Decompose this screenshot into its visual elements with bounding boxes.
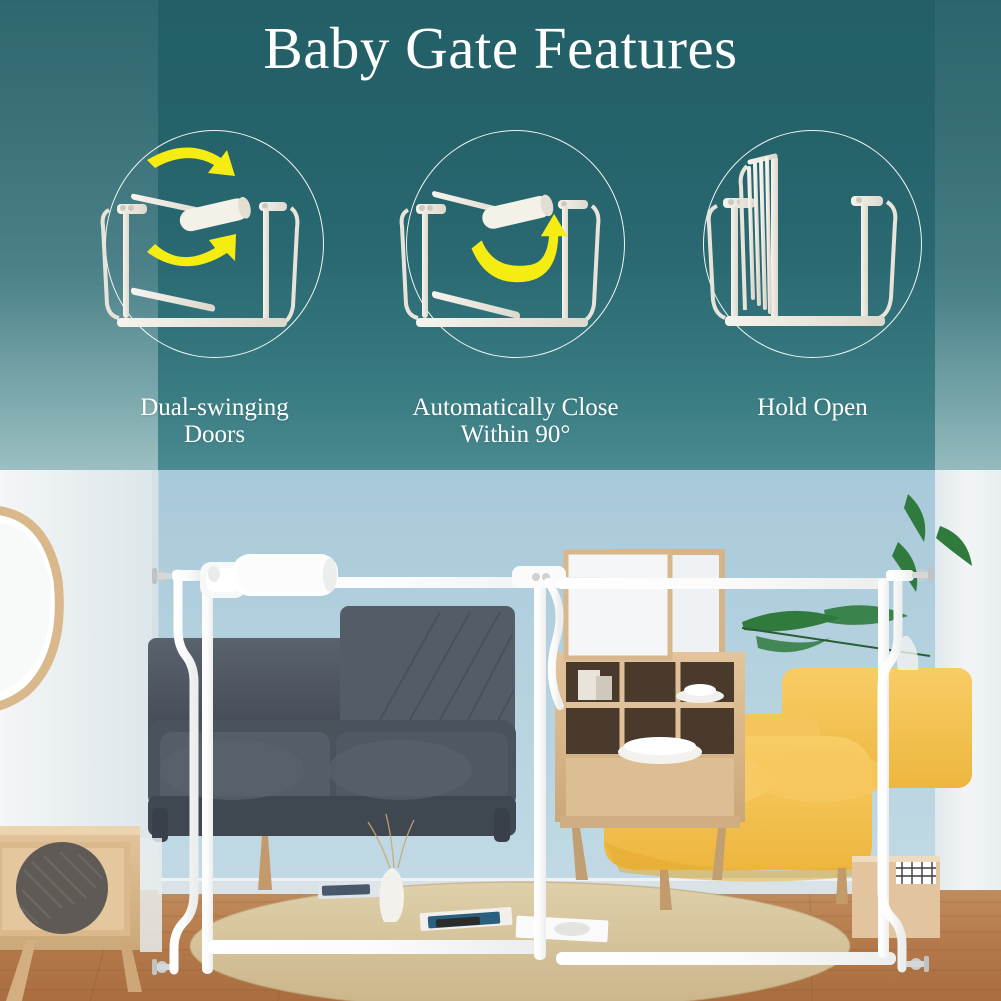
feature-caption: Automatically Close Within 90°	[384, 394, 647, 448]
framed-art	[566, 552, 670, 658]
gate-auto-close-icon	[398, 128, 633, 363]
feature-caption-line1: Automatically Close	[412, 394, 618, 421]
feature-caption-line1: Dual-swinging	[140, 394, 289, 421]
feature-caption-line2: Doors	[184, 421, 245, 448]
infographic-canvas: Baby Gate Features	[0, 0, 1001, 1001]
feature-caption-line2: Within 90°	[461, 421, 571, 448]
feature-caption: Hold Open	[681, 394, 944, 421]
gate-hold-open-icon	[695, 128, 930, 363]
feature-item-hold-open: Hold Open	[695, 128, 930, 458]
feature-row: Dual-swinging Doors	[0, 128, 1001, 458]
feature-item-automatically-close: Automatically Close Within 90°	[398, 128, 633, 458]
swing-arrow-top	[147, 147, 235, 176]
lifestyle-photo	[0, 470, 1001, 1001]
page-title: Baby Gate Features	[0, 15, 1001, 81]
gate-dual-swing-icon	[97, 128, 332, 363]
feature-item-dual-swinging: Dual-swinging Doors	[97, 128, 332, 458]
feature-caption: Dual-swinging Doors	[83, 394, 346, 448]
feature-caption-line1: Hold Open	[757, 394, 867, 421]
